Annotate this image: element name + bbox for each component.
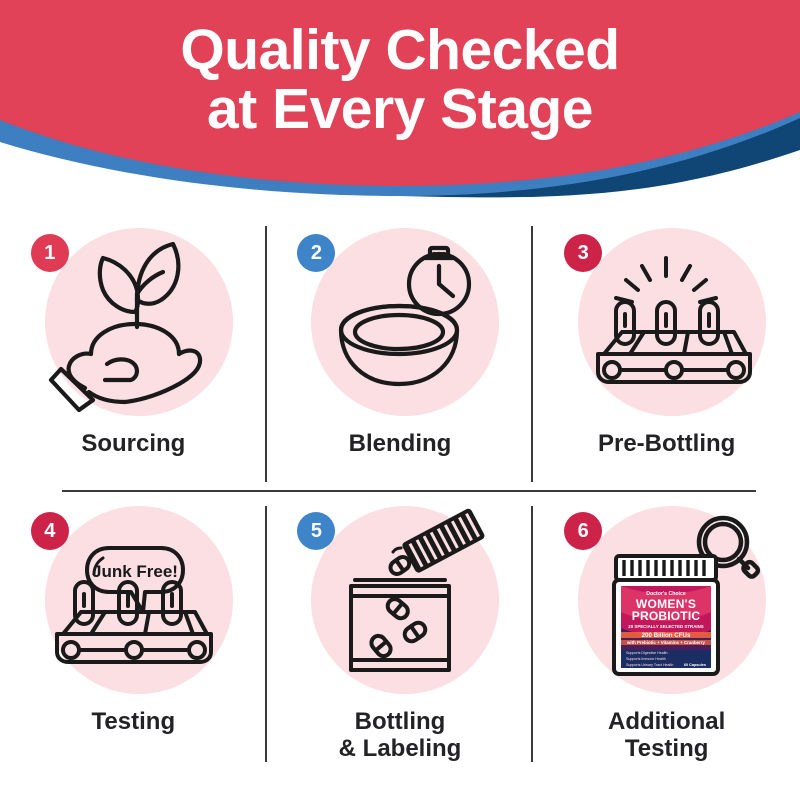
step-card-blending[interactable]: 2 Blendin bbox=[267, 212, 534, 492]
step-label-bottling-labeling: Bottling & Labeling bbox=[339, 709, 462, 763]
product-bottle-cap bbox=[616, 556, 716, 580]
product-strains-text: 20 SPECIALLY SELECTED STRAINS bbox=[628, 624, 703, 629]
step-card-additional-testing[interactable]: 6 bbox=[533, 492, 800, 772]
product-ingredients-text: with Prebiotic + Vitamins + Cranberry bbox=[626, 640, 706, 645]
step-card-bottling-labeling[interactable]: 5 bbox=[267, 492, 534, 772]
step-number-badge-6: 6 bbox=[564, 512, 602, 550]
step-number-badge-4: 4 bbox=[31, 512, 69, 550]
step-card-testing[interactable]: 4 bbox=[0, 492, 267, 772]
step-label-pre-bottling: Pre-Bottling bbox=[598, 431, 735, 458]
step-number-text: 5 bbox=[311, 520, 322, 543]
step-artwork-blending: 2 bbox=[297, 222, 502, 427]
step-artwork-additional-testing: 6 bbox=[564, 500, 769, 705]
step-artwork-sourcing: 1 bbox=[31, 222, 236, 427]
product-bullet-1: Supports Digestive Health bbox=[626, 651, 668, 655]
product-potency-text: 200 Billion CFUs bbox=[642, 632, 691, 639]
step-number-text: 1 bbox=[44, 242, 55, 265]
steps-grid: 1 bbox=[0, 212, 800, 772]
step-card-sourcing[interactable]: 1 bbox=[0, 212, 267, 492]
step-artwork-bottling: 5 bbox=[297, 500, 502, 705]
step-label-blending: Blending bbox=[349, 431, 452, 458]
step-number-badge-1: 1 bbox=[31, 234, 69, 272]
step-card-pre-bottling[interactable]: 3 bbox=[533, 212, 800, 492]
step-artwork-pre-bottling: 3 bbox=[564, 222, 769, 427]
step-number-badge-3: 3 bbox=[564, 234, 602, 272]
step-label-testing: Testing bbox=[92, 709, 176, 736]
product-bullet-3: Supports Urinary Tract Health bbox=[626, 663, 673, 667]
step-label-additional-testing: Additional Testing bbox=[608, 709, 725, 763]
step-number-text: 4 bbox=[44, 520, 55, 543]
header-banner bbox=[0, 0, 800, 200]
product-bottle-body: Doctor's Choice WOMEN'S PROBIOTIC 20 SPE… bbox=[614, 580, 718, 674]
product-title-line2: PROBIOTIC bbox=[632, 609, 701, 623]
step-number-text: 3 bbox=[578, 242, 589, 265]
step-number-text: 6 bbox=[578, 520, 589, 543]
step-label-sourcing: Sourcing bbox=[81, 431, 185, 458]
step-number-text: 2 bbox=[311, 242, 322, 265]
speech-bubble-text: Junk Free! bbox=[92, 562, 178, 581]
product-bullet-2: Supports Immune Health bbox=[626, 657, 666, 661]
step-artwork-testing: 4 bbox=[31, 500, 236, 705]
product-count-text: 60 Capsules bbox=[684, 663, 706, 667]
